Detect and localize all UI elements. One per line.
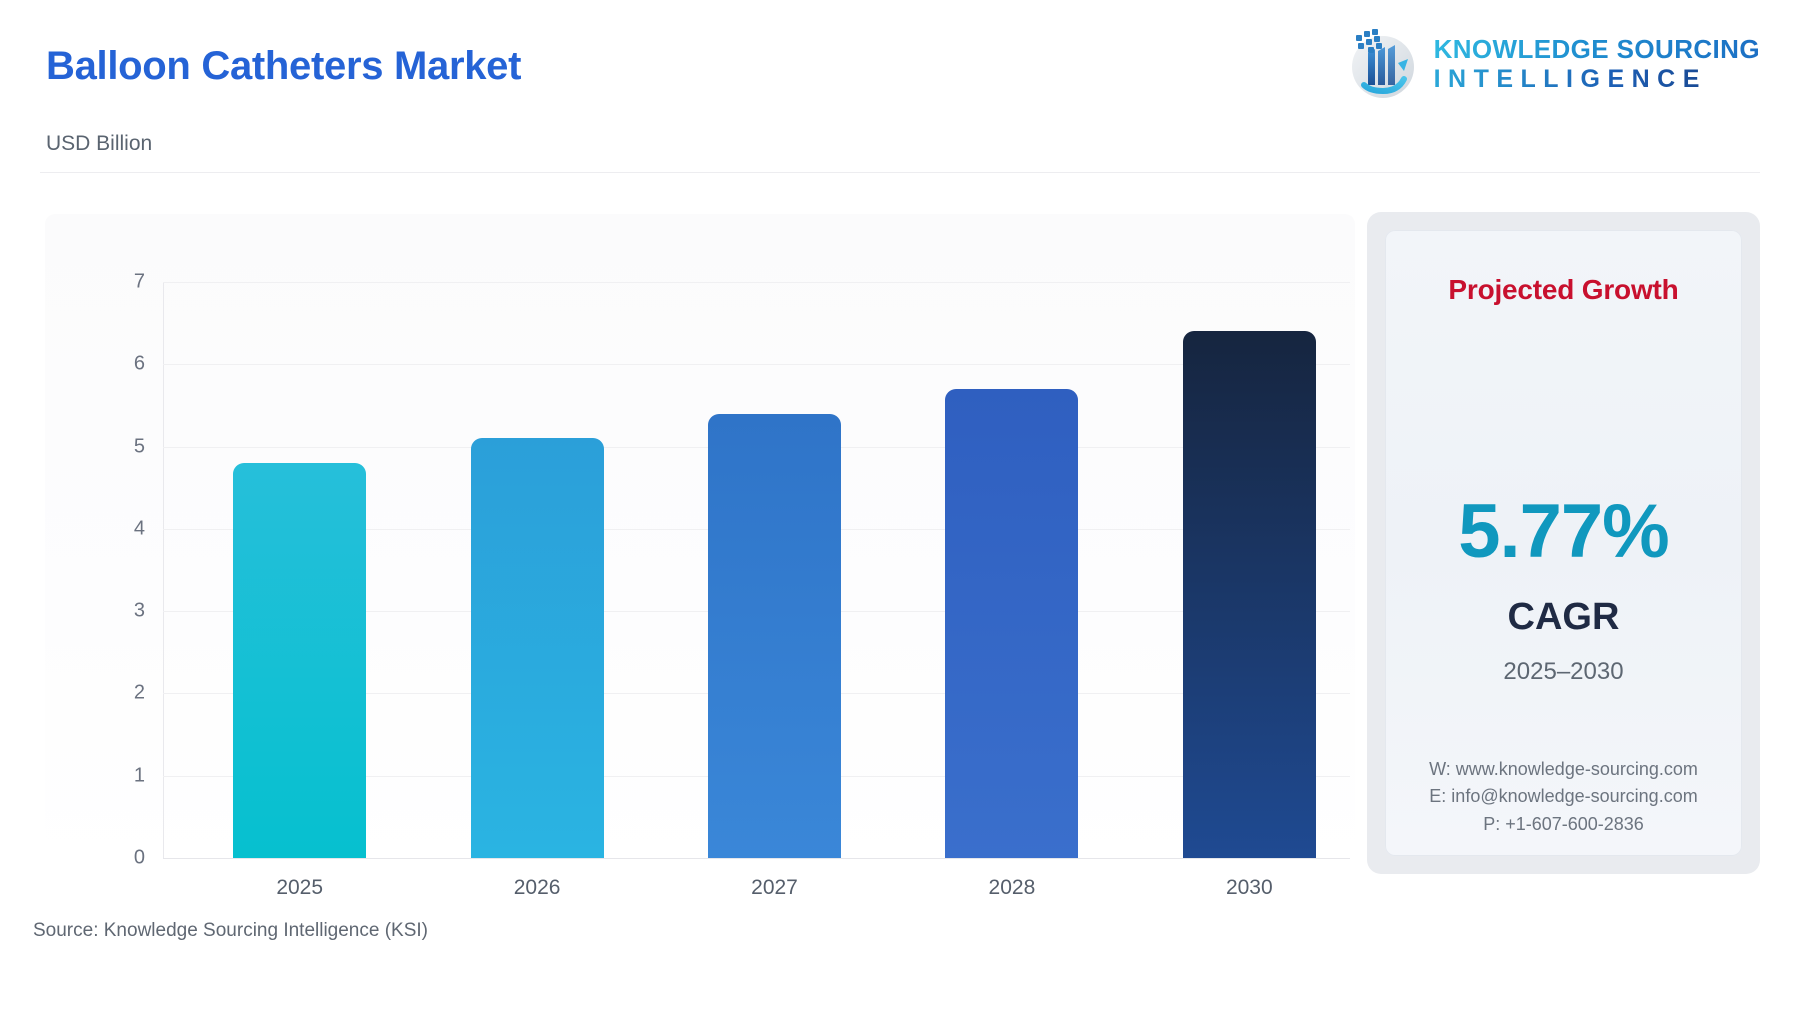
x-axis-tick-label: 2026	[514, 876, 561, 900]
x-axis-tick-label: 2025	[276, 876, 323, 900]
header-divider	[40, 172, 1760, 173]
logo-wordmark: KNOWLEDGE SOURCING INTELLIGENCE	[1434, 35, 1760, 92]
bar-2027[interactable]	[708, 414, 841, 858]
contact-website: W: www.knowledge-sourcing.com	[1385, 756, 1742, 783]
contact-block: W: www.knowledge-sourcing.com E: info@kn…	[1385, 756, 1742, 838]
y-axis-line	[163, 282, 164, 858]
brand-logo: KNOWLEDGE SOURCING INTELLIGENCE	[1342, 22, 1760, 106]
logo-line-knowledge-sourcing: KNOWLEDGE SOURCING	[1434, 35, 1760, 63]
chart-panel: 0123456720252026202720282030	[45, 214, 1355, 874]
page-title: Balloon Catheters Market	[46, 44, 521, 89]
contact-email: E: info@knowledge-sourcing.com	[1385, 783, 1742, 810]
y-axis-tick-label: 2	[134, 682, 145, 705]
bar-2025[interactable]	[233, 463, 366, 858]
cagr-value: 5.77%	[1385, 488, 1742, 575]
gridline	[163, 858, 1350, 859]
ksi-globe-bars-arrow-icon	[1342, 25, 1420, 103]
x-axis-tick-label: 2027	[751, 876, 798, 900]
projected-growth-heading: Projected Growth	[1385, 274, 1742, 306]
y-axis-tick-label: 1	[134, 764, 145, 787]
x-axis-tick-label: 2030	[1226, 876, 1273, 900]
page-header: Balloon Catheters Market USD Billion	[0, 0, 1800, 172]
y-axis-tick-label: 6	[134, 353, 145, 376]
bar-2028[interactable]	[945, 389, 1078, 858]
projected-growth-card-inner: Projected Growth 5.77% CAGR 2025–2030 W:…	[1385, 230, 1742, 856]
gridline	[163, 282, 1350, 283]
page-subtitle: USD Billion	[46, 132, 152, 156]
projected-growth-card: Projected Growth 5.77% CAGR 2025–2030 W:…	[1367, 212, 1760, 874]
y-axis-tick-label: 0	[134, 847, 145, 870]
cagr-period: 2025–2030	[1385, 658, 1742, 686]
contact-phone: P: +1-607-600-2836	[1385, 811, 1742, 838]
x-axis-tick-label: 2028	[989, 876, 1036, 900]
y-axis-tick-label: 7	[134, 271, 145, 294]
gridline	[163, 364, 1350, 365]
y-axis-tick-label: 4	[134, 517, 145, 540]
bar-2030[interactable]	[1183, 331, 1316, 858]
y-axis-tick-label: 5	[134, 435, 145, 458]
y-axis-tick-label: 3	[134, 600, 145, 623]
cagr-label: CAGR	[1385, 596, 1742, 639]
logo-line-intelligence: INTELLIGENCE	[1434, 66, 1760, 93]
bar-chart-plot-area: 0123456720252026202720282030	[163, 282, 1350, 858]
bar-2026[interactable]	[471, 438, 604, 858]
chart-source-note: Source: Knowledge Sourcing Intelligence …	[33, 920, 428, 942]
